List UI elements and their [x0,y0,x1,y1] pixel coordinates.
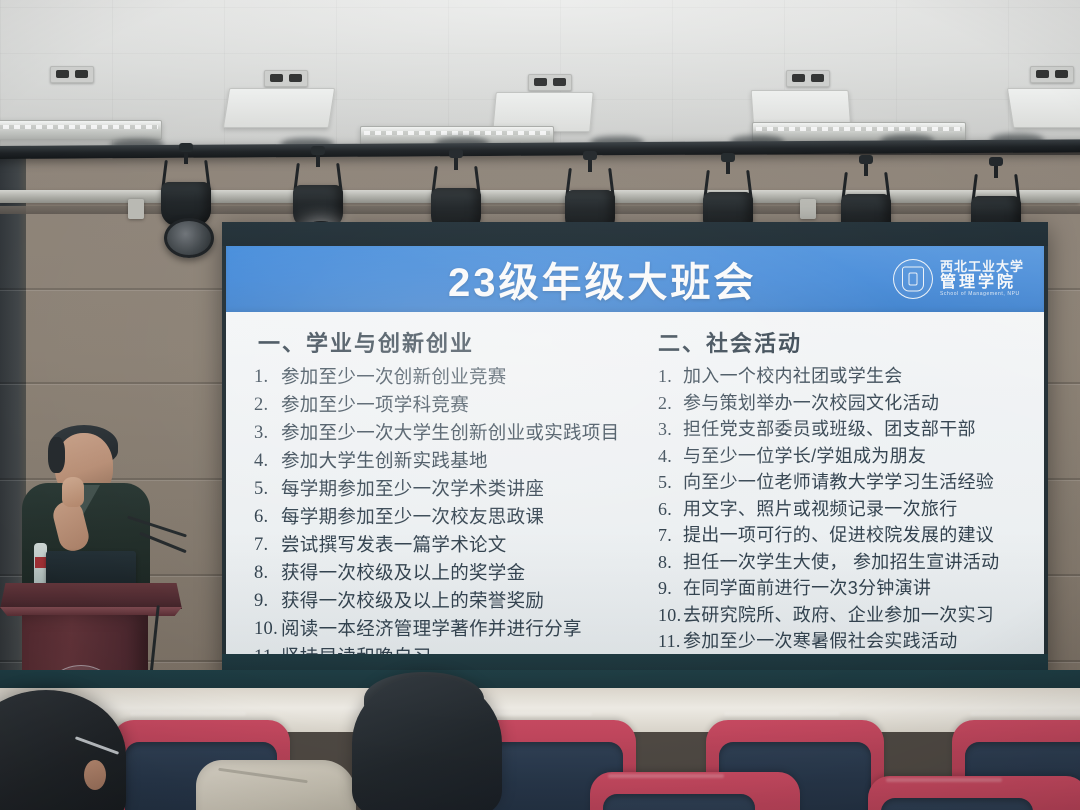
ceiling-downlight-icon [786,70,830,87]
list-item: 4.与至少一位学长/学姐成为朋友 [658,443,1044,470]
list-item: 11.坚持早读和晚自习 [254,643,640,654]
list-item: 6.用文字、照片或视频记录一次旅行 [658,496,1044,523]
list-item-text: 加入一个校内社团或学生会 [683,363,903,390]
list-item-number: 3. [254,419,281,447]
rail-bracket [800,199,816,219]
list-item-text: 参加至少一次寒暑假社会实践活动 [683,628,958,654]
school-logo-text: 西北工业大学 管理学院 School of Management, NPU [940,260,1024,298]
speaker-hand [62,477,84,507]
slide-content: 一、学业与创新创业 1.参加至少一次创新创业竞赛 2.参加至少一项学科竞赛 3.… [226,312,1044,654]
logo-school-name-en: School of Management, NPU [940,292,1024,297]
list-item-number: 7. [254,531,281,559]
list-item: 2.参与策划举办一次校园文化活动 [658,390,1044,417]
list-item: 5.每学期参加至少一次学术类讲座 [254,475,640,503]
list-item-text: 获得一次校级及以上的荣誉奖励 [281,587,544,615]
school-logo: 西北工业大学 管理学院 School of Management, NPU [893,259,1024,299]
list-item-number: 9. [658,575,683,602]
ceiling-downlight-icon [1030,66,1074,83]
slide-column-academics: 一、学业与创新创业 1.参加至少一次创新创业竞赛 2.参加至少一项学科竞赛 3.… [226,326,640,654]
auditorium-seat [590,762,800,810]
list-item: 11.参加至少一次寒暑假社会实践活动 [658,628,1044,654]
list-item-text: 担任党支部委员或班级、团支部干部 [683,416,976,443]
ceiling-downlight-icon [264,70,308,87]
list-item-text: 去研究院所、政府、企业参加一次实习 [683,602,994,629]
list-item-text: 参加至少一次创新创业竞赛 [281,363,507,391]
list-item: 8.担任一次学生大使， 参加招生宣讲活动 [658,549,1044,576]
list-item-text: 每学期参加至少一次校友思政课 [281,503,544,531]
list-item-text: 参加大学生创新实践基地 [281,447,488,475]
list-item-text: 坚持早读和晚自习 [281,643,431,654]
podium-top-surface [0,583,182,609]
list-item-number: 11. [254,643,281,654]
slide-column-social-activities: 二、社会活动 1.加入一个校内社团或学生会 2.参与策划举办一次校园文化活动 3… [640,326,1044,654]
list-item-text: 阅读一本经济管理学著作并进行分享 [281,615,582,643]
list-item-text: 尝试撰写发表一篇学术论文 [281,531,507,559]
slide-title-banner: 23级年级大班会 西北工业大学 管理学院 School of Managemen… [226,246,1044,312]
list-item: 10.阅读一本经济管理学著作并进行分享 [254,615,640,643]
list-item-text: 参加至少一项学科竞赛 [281,391,469,419]
page-title: 23级年级大班会 [448,250,757,308]
list-item: 3.担任党支部委员或班级、团支部干部 [658,416,1044,443]
list-item-number: 8. [658,549,683,576]
list-item: 1.参加至少一次创新创业竞赛 [254,363,640,391]
list-item-number: 7. [658,522,683,549]
column-heading: 一、学业与创新创业 [254,326,640,358]
logo-university-name: 西北工业大学 [940,260,1024,274]
screen-top-border [222,222,1048,246]
list-item: 2.参加至少一项学科竞赛 [254,391,640,419]
list-item-number: 4. [254,447,281,475]
column-heading: 二、社会活动 [658,326,1044,358]
list-item-number: 1. [658,363,683,390]
ceiling-panel-light [223,88,335,128]
projection-screen: 23级年级大班会 西北工业大学 管理学院 School of Managemen… [222,222,1048,688]
list-item: 7.尝试撰写发表一篇学术论文 [254,531,640,559]
ceiling-downlight-icon [50,66,94,83]
list-item-number: 9. [254,587,281,615]
list-item: 4.参加大学生创新实践基地 [254,447,640,475]
list-item: 10.去研究院所、政府、企业参加一次实习 [658,602,1044,629]
list-item-number: 6. [658,496,683,523]
list-item-number: 2. [254,391,281,419]
ceiling-strip-light [0,120,162,140]
list-item-text: 用文字、照片或视频记录一次旅行 [683,496,958,523]
list-item: 3.参加至少一次大学生创新创业或实践项目 [254,419,640,447]
rail-bracket [128,199,144,219]
list-item-text: 在同学面前进行一次3分钟演讲 [683,575,931,602]
list-item-text: 参与策划举办一次校园文化活动 [683,390,939,417]
list-item-number: 5. [658,469,683,496]
list-item: 7.提出一项可行的、促进校院发展的建议 [658,522,1044,549]
list-item: 9.获得一次校级及以上的荣誉奖励 [254,587,640,615]
list-item-number: 2. [658,390,683,417]
list-item-number: 11. [658,628,683,654]
ceiling-panel-light [1007,88,1080,128]
auditorium-seat-row [0,700,1080,810]
list-item-number: 4. [658,443,683,470]
list-item-text: 与至少一位学长/学姐成为朋友 [683,443,926,470]
presentation-slide: 23级年级大班会 西北工业大学 管理学院 School of Managemen… [226,246,1044,654]
list-item-number: 8. [254,559,281,587]
list-item-text: 每学期参加至少一次学术类讲座 [281,475,544,503]
checklist-social: 1.加入一个校内社团或学生会 2.参与策划举办一次校园文化活动 3.担任党支部委… [658,363,1044,654]
school-seal-icon [893,259,933,299]
checklist-academics: 1.参加至少一次创新创业竞赛 2.参加至少一项学科竞赛 3.参加至少一次大学生创… [254,363,640,654]
audience-person-ear [84,760,106,790]
list-item: 8.获得一次校级及以上的奖学金 [254,559,640,587]
logo-school-name: 管理学院 [940,274,1024,291]
list-item-number: 1. [254,363,281,391]
list-item-number: 6. [254,503,281,531]
list-item: 6.每学期参加至少一次校友思政课 [254,503,640,531]
list-item-number: 10. [658,602,683,629]
list-item-text: 向至少一位老师请教大学学习生活经验 [683,469,994,496]
list-item-text: 参加至少一次大学生创新创业或实践项目 [281,419,619,447]
list-item-text: 提出一项可行的、促进校院发展的建议 [683,522,994,549]
list-item: 1.加入一个校内社团或学生会 [658,363,1044,390]
list-item-text: 担任一次学生大使， 参加招生宣讲活动 [683,549,999,576]
lecture-hall-photo: 23级年级大班会 西北工业大学 管理学院 School of Managemen… [0,0,1080,810]
audience-person-head [352,676,502,810]
draped-jacket [196,760,356,810]
list-item-number: 3. [658,416,683,443]
list-item: 5.向至少一位老师请教大学学习生活经验 [658,469,1044,496]
list-item-text: 获得一次校级及以上的奖学金 [281,559,525,587]
list-item-number: 10. [254,615,281,643]
list-item-number: 5. [254,475,281,503]
auditorium-seat [868,766,1080,810]
laptop [46,551,136,587]
list-item: 9.在同学面前进行一次3分钟演讲 [658,575,1044,602]
ceiling-downlight-icon [528,74,572,91]
speaker-hair-side [48,437,65,473]
